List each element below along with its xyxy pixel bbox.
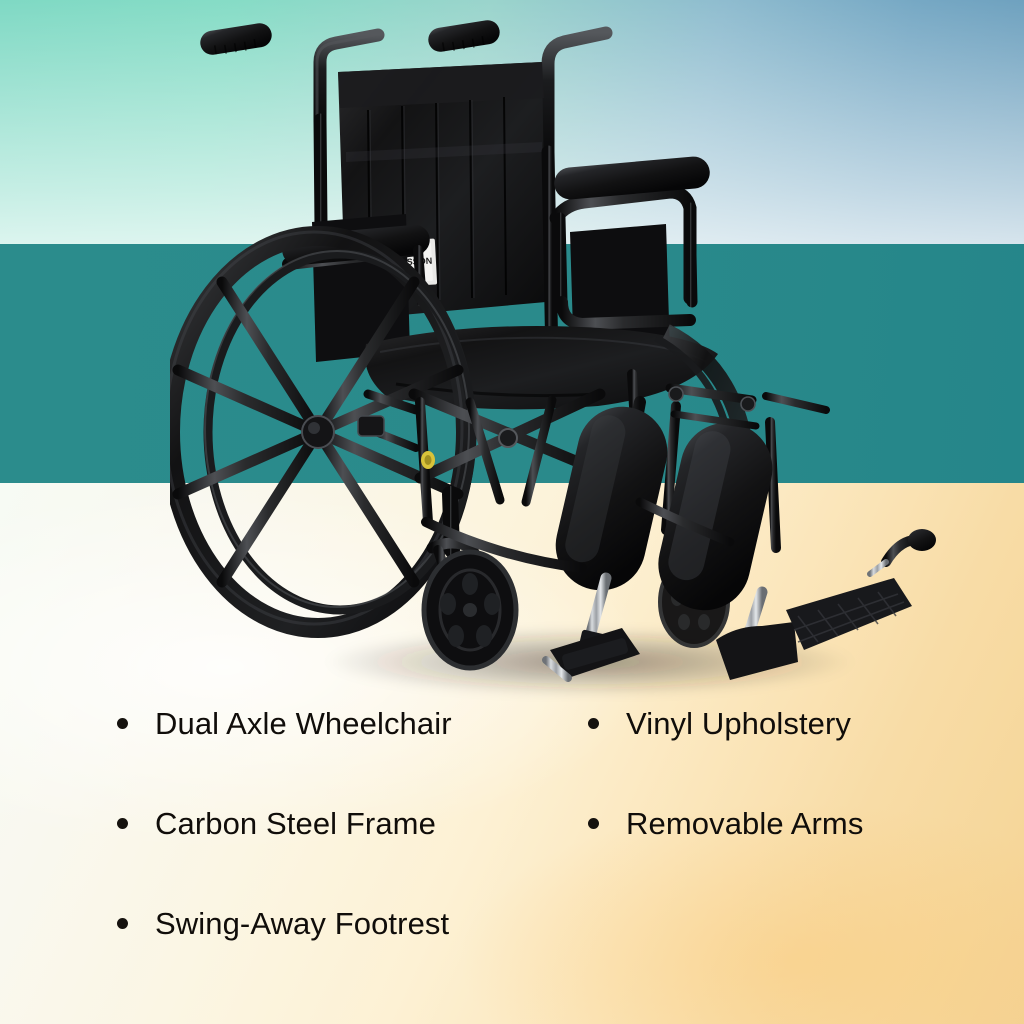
feature-list: Dual Axle Wheelchair Carbon Steel Frame … bbox=[0, 672, 1024, 972]
feature-label: Swing-Away Footrest bbox=[155, 908, 449, 939]
yellow-accent-detail bbox=[421, 451, 435, 469]
bullet-dot-icon bbox=[117, 918, 128, 929]
product-photo: McKESSON BRAND bbox=[170, 2, 970, 702]
feature-label: Dual Axle Wheelchair bbox=[155, 708, 452, 739]
push-handle-left-grip bbox=[199, 22, 274, 57]
bullet-dot-icon bbox=[588, 818, 599, 829]
feature-item-swing-away: Swing-Away Footrest bbox=[117, 908, 449, 939]
feature-item-carbon-steel: Carbon Steel Frame bbox=[117, 808, 436, 839]
bullet-dot-icon bbox=[588, 718, 599, 729]
feature-item-removable-arms: Removable Arms bbox=[588, 808, 863, 839]
feature-label: Carbon Steel Frame bbox=[155, 808, 436, 839]
bullet-dot-icon bbox=[117, 818, 128, 829]
product-feature-card: McKESSON BRAND bbox=[0, 0, 1024, 1024]
bullet-dot-icon bbox=[117, 718, 128, 729]
push-handle-right-grip bbox=[427, 19, 502, 54]
wheel-lock-brake bbox=[358, 394, 416, 448]
feature-label: Vinyl Upholstery bbox=[626, 708, 851, 739]
feature-label: Removable Arms bbox=[626, 808, 863, 839]
push-handle-right bbox=[548, 33, 606, 152]
feature-item-vinyl: Vinyl Upholstery bbox=[588, 708, 851, 739]
front-caster-assembly bbox=[424, 494, 516, 668]
legrest-rear bbox=[547, 398, 677, 655]
front-caster-wheel bbox=[424, 552, 516, 668]
feature-item-dual-axle: Dual Axle Wheelchair bbox=[117, 708, 452, 739]
